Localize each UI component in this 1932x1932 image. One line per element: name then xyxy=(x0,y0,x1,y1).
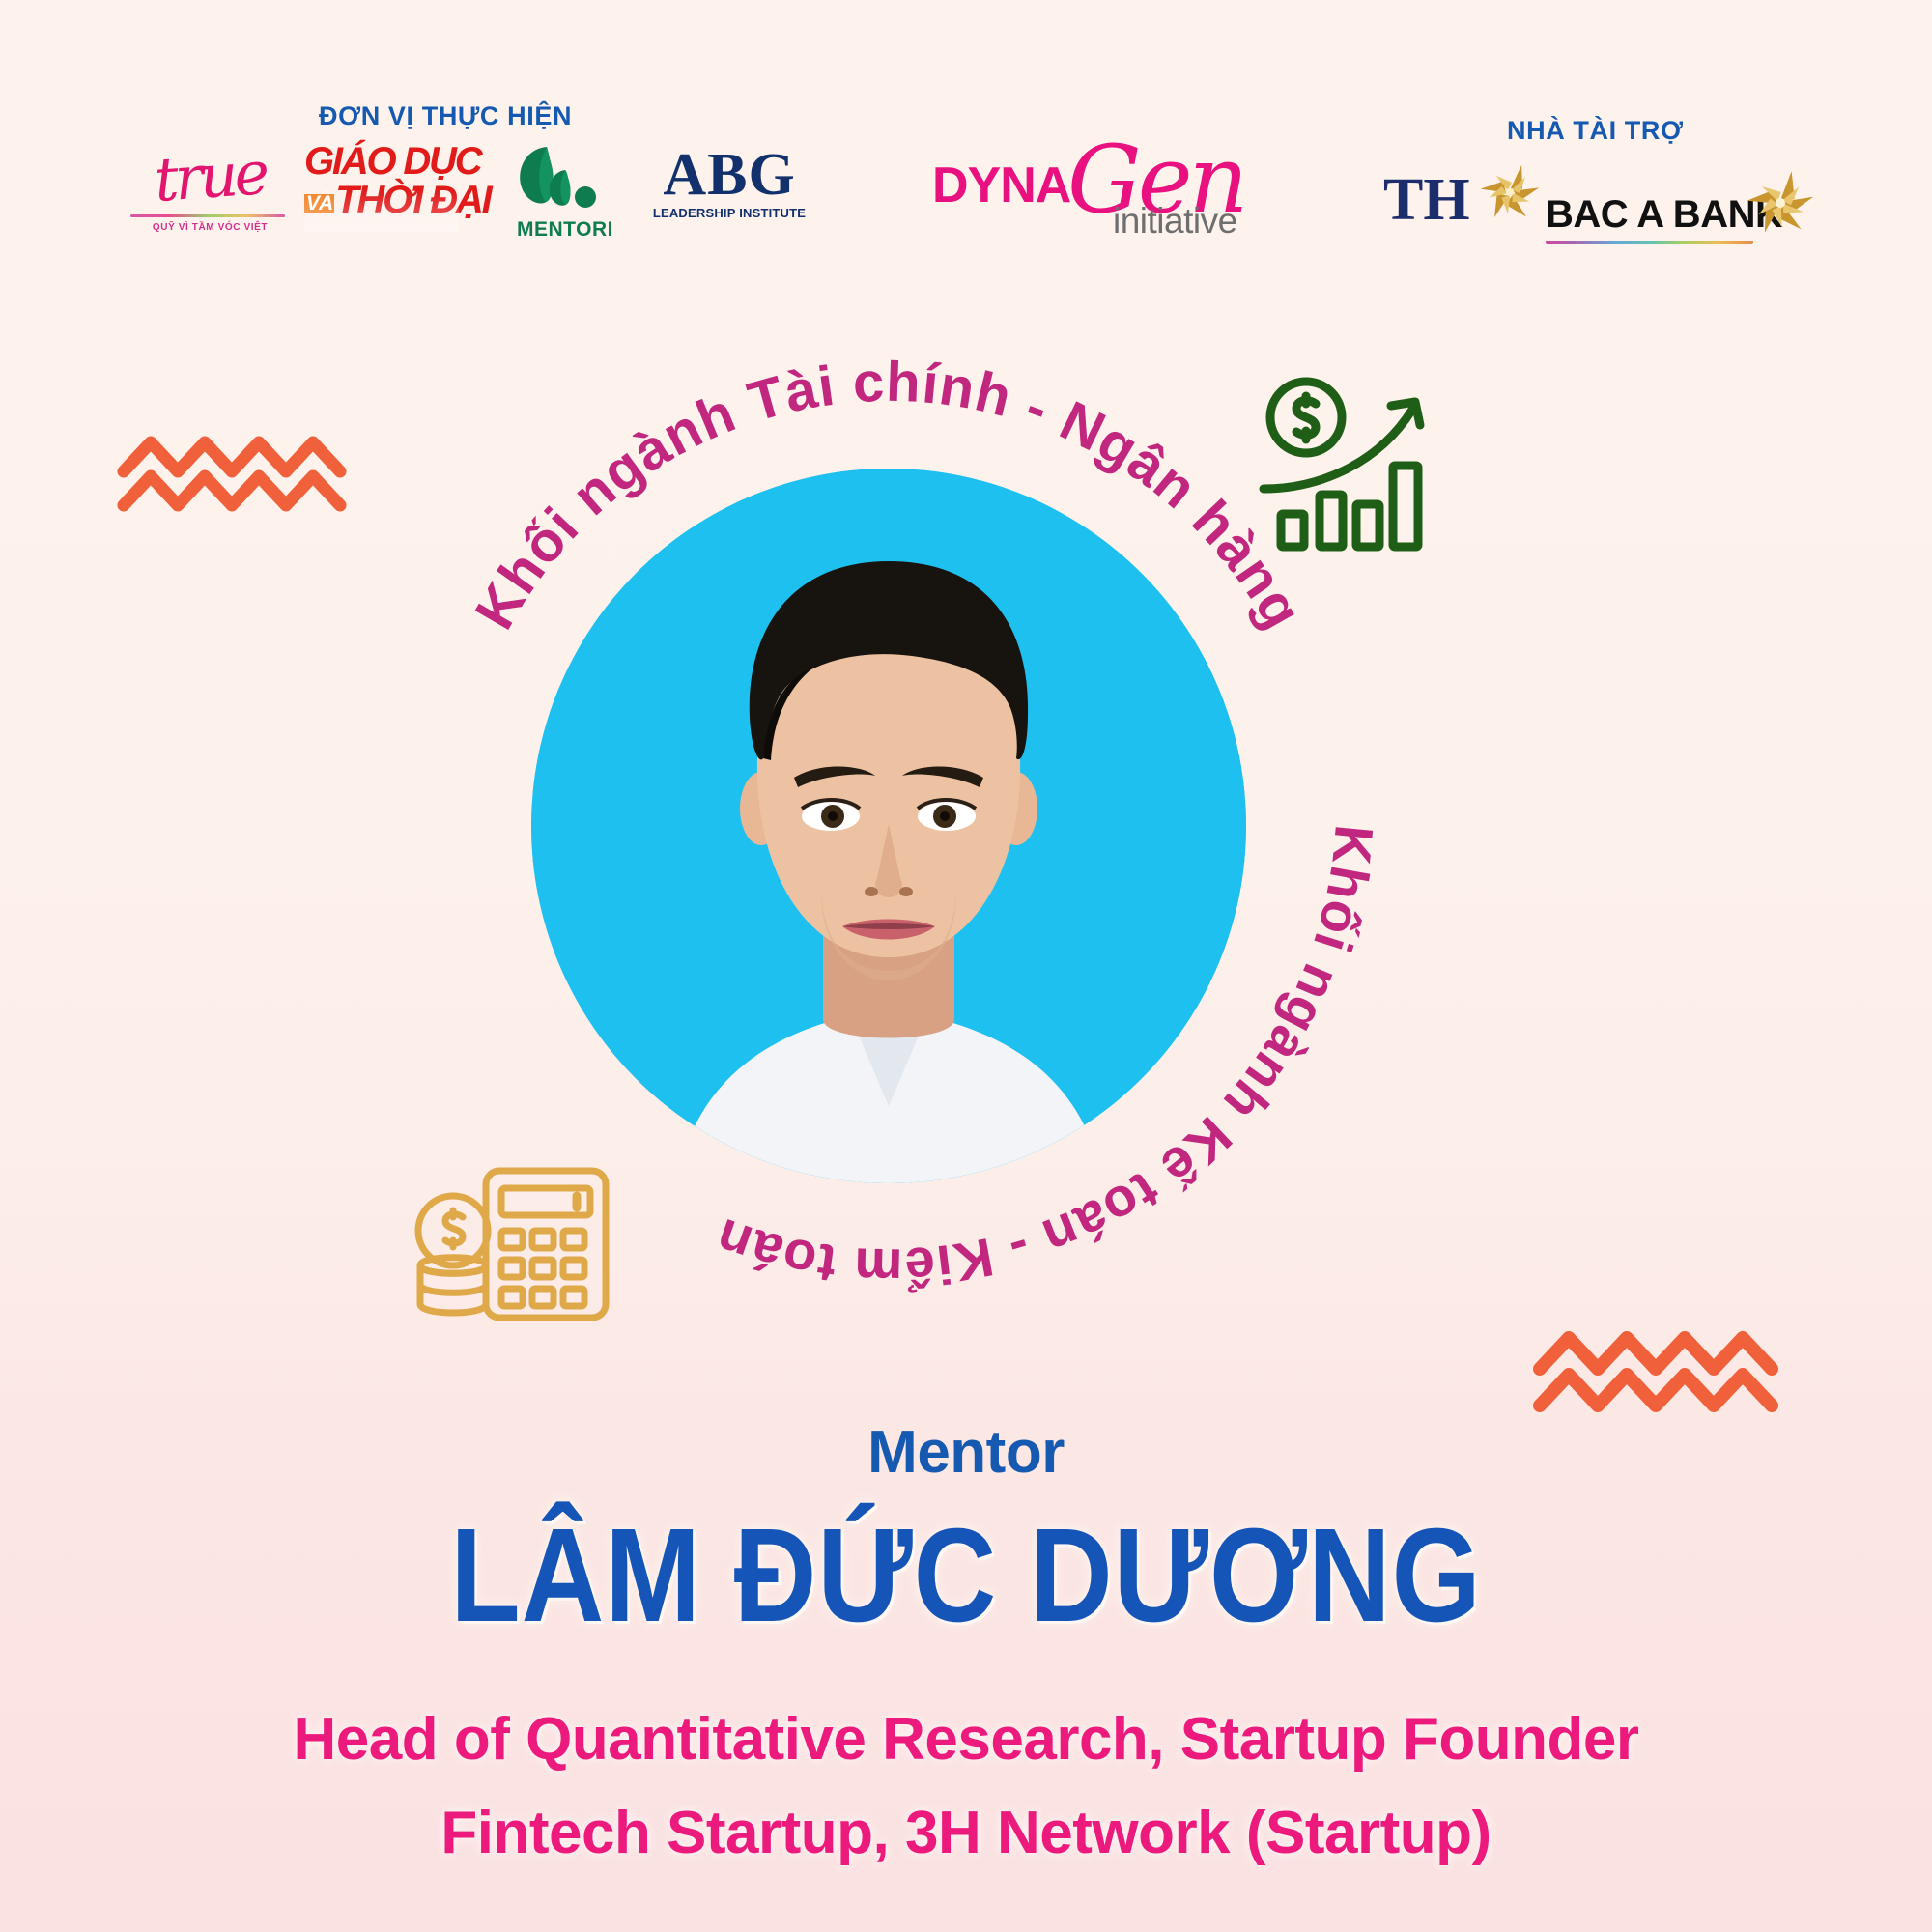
poster-stage: ĐƠN VỊ THỰC HIỆN NHÀ TÀI TRỢ true QUỸ VÌ… xyxy=(0,0,1932,1932)
mentor-name: LÂM ĐỨC DƯƠNG xyxy=(135,1509,1797,1642)
zigzag-decoration-right xyxy=(1531,1328,1787,1415)
logo-dynagen-initiative: DYNA Gen initiative xyxy=(932,135,1251,246)
zigzag-decoration-left xyxy=(116,433,353,515)
calculator-coins-icon xyxy=(391,1150,623,1328)
gd-line-1: GIÁO DỤC xyxy=(304,143,459,180)
growth-chart-dollar-icon xyxy=(1246,367,1449,560)
bac-a-bank-rainbow-rule xyxy=(1546,241,1753,244)
true-tagline: QUỸ VÌ TẦM VÓC VIỆT xyxy=(121,222,299,233)
portrait-illustration xyxy=(531,469,1246,1183)
abg-tagline: LEADERSHIP INSTITUTE xyxy=(642,206,816,220)
mentor-title-line-1: Head of Quantitative Research, Startup F… xyxy=(0,1705,1932,1774)
logo-abg: ABG LEADERSHIP INSTITUTE xyxy=(642,147,816,239)
logo-true: true QUỸ VÌ TẦM VÓC VIỆT xyxy=(121,145,299,246)
mentor-role-label: Mentor xyxy=(0,1418,1932,1487)
mentor-title-line-2: Fintech Startup, 3H Network (Startup) xyxy=(0,1799,1932,1867)
dynagen-part-dyna: DYNA xyxy=(932,156,1070,214)
th-flower-icon xyxy=(1476,158,1544,226)
logo-giao-duc-va-thoi-dai: GIÁO DỤC VÀTHỜI ĐẠI xyxy=(304,143,459,235)
logo-mentori: MENTORI xyxy=(512,145,618,241)
logo-bac-a-bank: BAC A BANK xyxy=(1546,193,1802,263)
gd-line-2-text: THỜI ĐẠI xyxy=(335,179,490,221)
true-wordmark: true xyxy=(119,133,302,221)
gd-line-2: VÀTHỜI ĐẠI xyxy=(304,182,459,218)
sponsors-label: NHÀ TÀI TRỢ xyxy=(1507,116,1684,146)
mentori-leaf-icon xyxy=(512,145,618,220)
gd-badge-va: VÀ xyxy=(304,194,334,213)
abg-wordmark: ABG xyxy=(642,147,816,204)
mentor-photo xyxy=(531,469,1246,1183)
true-rainbow-rule xyxy=(130,214,285,217)
logo-th: TH xyxy=(1383,174,1528,251)
dynagen-part-initiative: initiative xyxy=(1113,201,1237,241)
organizers-label: ĐƠN VỊ THỰC HIỆN xyxy=(319,101,572,131)
bac-a-bank-flower-icon xyxy=(1742,164,1819,241)
mentori-wordmark: MENTORI xyxy=(512,218,618,241)
